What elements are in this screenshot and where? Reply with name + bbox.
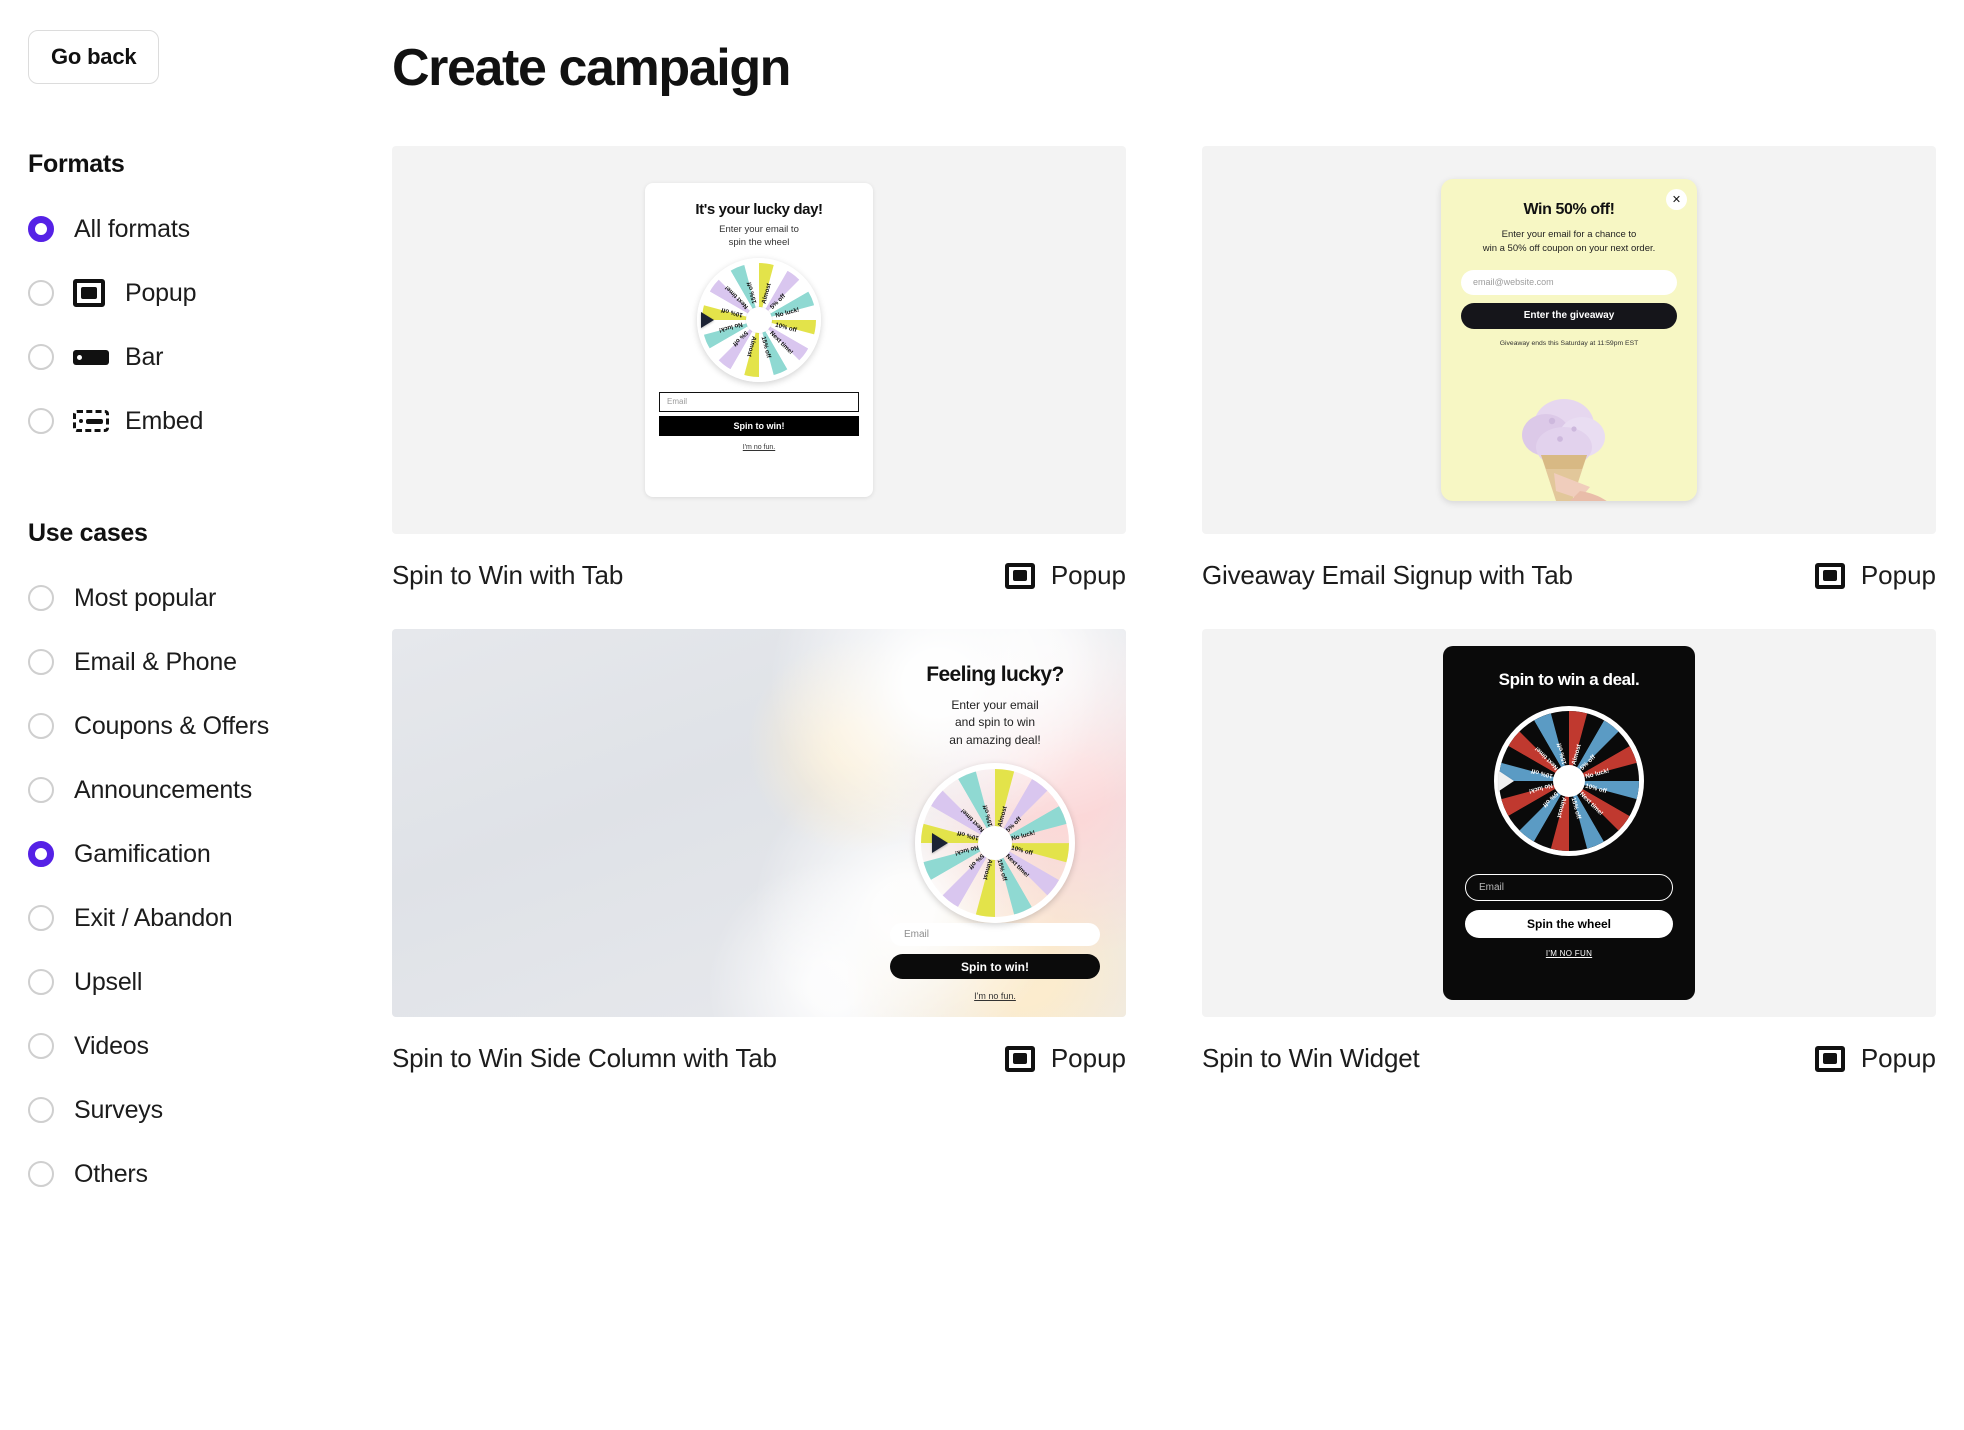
email-input[interactable]: Email (890, 923, 1100, 946)
use-case-option-email-phone[interactable]: Email & Phone (28, 630, 392, 694)
option-label: Announcements (74, 776, 252, 805)
decline-link[interactable]: I'm no fun. (659, 444, 859, 451)
option-label: Others (74, 1160, 148, 1189)
popup-icon (1815, 1046, 1845, 1072)
email-input[interactable]: Email (659, 392, 859, 412)
formats-section-title: Formats (28, 150, 392, 179)
radio-button[interactable] (28, 344, 54, 370)
popup-subheading: Enter your emailand spin to winan amazin… (949, 697, 1040, 749)
wheel-hub (978, 826, 1012, 860)
submit-button[interactable]: Enter the giveaway (1461, 303, 1677, 329)
template-name: Spin to Win with Tab (392, 560, 623, 591)
use-cases-option-list: Most popularEmail & PhoneCoupons & Offer… (28, 566, 392, 1206)
template-card[interactable]: ✕ Win 50% off! Enter your email for a ch… (1202, 146, 1936, 591)
fine-print: Giveaway ends this Saturday at 11:59pm E… (1461, 340, 1677, 347)
side-column-mock: Feeling lucky? Enter your emailand spin … (392, 629, 1126, 1017)
template-preview-spin-to-win-widget[interactable]: Spin to win a deal. Almost5% offNo luck!… (1202, 629, 1936, 1017)
wheel-container: Almost5% offNo luck!10% offNext time!15%… (1465, 706, 1673, 856)
use-case-option-surveys[interactable]: Surveys (28, 1078, 392, 1142)
use-case-option-gamification[interactable]: Gamification (28, 822, 392, 886)
format-option-all-formats[interactable]: All formats (28, 197, 392, 261)
template-card[interactable]: Feeling lucky? Enter your emailand spin … (392, 629, 1126, 1074)
email-input[interactable]: Email (1465, 874, 1673, 901)
option-label: Coupons & Offers (74, 712, 269, 741)
spin-button[interactable]: Spin to win! (890, 954, 1100, 979)
template-name: Spin to Win Side Column with Tab (392, 1043, 777, 1074)
template-name: Giveaway Email Signup with Tab (1202, 560, 1573, 591)
format-badge: Popup (1815, 560, 1936, 591)
format-glyph (73, 350, 113, 365)
email-input[interactable]: email@website.com (1461, 270, 1677, 295)
radio-button[interactable] (28, 777, 54, 803)
popup-subheading: Enter your email tospin the wheel (659, 224, 859, 250)
card-footer: Spin to Win Side Column with Tab Popup (392, 1043, 1126, 1074)
card-footer: Spin to Win Widget Popup (1202, 1043, 1936, 1074)
use-case-option-videos[interactable]: Videos (28, 1014, 392, 1078)
popup-heading: It's your lucky day! (659, 201, 859, 218)
format-glyph (73, 279, 113, 307)
radio-button[interactable] (28, 280, 54, 306)
format-option-popup[interactable]: Popup (28, 261, 392, 325)
card-footer: Giveaway Email Signup with Tab Popup (1202, 560, 1936, 591)
use-case-option-most-popular[interactable]: Most popular (28, 566, 392, 630)
formats-option-list: All formatsPopupBarEmbed (28, 197, 392, 453)
wheel-hub (1553, 765, 1585, 797)
use-case-option-exit-abandon[interactable]: Exit / Abandon (28, 886, 392, 950)
format-badge-label: Popup (1051, 1043, 1126, 1074)
wheel-container: Almost5% offNo luck!10% offNext time!15%… (890, 763, 1100, 923)
use-case-option-announcements[interactable]: Announcements (28, 758, 392, 822)
decline-link[interactable]: I'M NO FUN (1465, 949, 1673, 958)
filters-sidebar: Go back Formats All formatsPopupBarEmbed… (0, 0, 392, 1430)
option-label: Bar (125, 343, 163, 372)
option-label: Popup (125, 279, 196, 308)
spin-button[interactable]: Spin the wheel (1465, 910, 1673, 938)
side-column-panel: Feeling lucky? Enter your emailand spin … (864, 629, 1126, 1017)
page-title: Create campaign (392, 38, 1936, 98)
template-preview-spin-to-win-with-tab[interactable]: It's your lucky day! Enter your email to… (392, 146, 1126, 534)
use-case-option-upsell[interactable]: Upsell (28, 950, 392, 1014)
ice-cream-cone-image (1494, 395, 1644, 501)
popup-icon (1005, 563, 1035, 589)
popup-mock: ✕ Win 50% off! Enter your email for a ch… (1441, 179, 1697, 501)
wheel-pointer-icon (701, 312, 714, 328)
spin-button[interactable]: Spin to win! (659, 416, 859, 436)
format-option-bar[interactable]: Bar (28, 325, 392, 389)
use-case-option-others[interactable]: Others (28, 1142, 392, 1206)
bar-icon (73, 350, 109, 365)
close-icon[interactable]: ✕ (1666, 189, 1687, 210)
template-preview-giveaway-email-signup[interactable]: ✕ Win 50% off! Enter your email for a ch… (1202, 146, 1936, 534)
prize-wheel[interactable]: Almost5% offNo luck!10% offNext time!15%… (697, 258, 821, 382)
embed-icon (73, 410, 109, 432)
wheel-hub (746, 307, 772, 333)
format-badge: Popup (1815, 1043, 1936, 1074)
option-label: Exit / Abandon (74, 904, 232, 933)
option-label: Email & Phone (74, 648, 237, 677)
option-label: Upsell (74, 968, 142, 997)
template-name: Spin to Win Widget (1202, 1043, 1420, 1074)
format-badge-label: Popup (1861, 1043, 1936, 1074)
option-label: Videos (74, 1032, 149, 1061)
option-label: Gamification (74, 840, 211, 869)
popup-icon (1005, 1046, 1035, 1072)
use-cases-section-title: Use cases (28, 519, 392, 548)
format-badge: Popup (1005, 1043, 1126, 1074)
format-badge-label: Popup (1051, 560, 1126, 591)
radio-button[interactable] (28, 585, 54, 611)
template-card[interactable]: Spin to win a deal. Almost5% offNo luck!… (1202, 629, 1936, 1074)
main-content: Create campaign It's your lucky day! Ent… (392, 0, 1964, 1430)
radio-button[interactable] (28, 1161, 54, 1187)
template-preview-spin-to-win-side-column[interactable]: Feeling lucky? Enter your emailand spin … (392, 629, 1126, 1017)
popup-subheading: Enter your email for a chance towin a 50… (1461, 228, 1677, 256)
wheel-pointer-icon (1499, 771, 1514, 791)
popup-heading: Feeling lucky? (926, 663, 1063, 687)
radio-button[interactable] (28, 1097, 54, 1123)
radio-button[interactable] (28, 408, 54, 434)
wheel-container: Almost5% offNo luck!10% offNext time!15%… (659, 258, 859, 382)
wheel-pointer-icon (932, 833, 948, 853)
radio-button[interactable] (28, 905, 54, 931)
radio-button[interactable] (28, 649, 54, 675)
use-case-option-coupons-offers[interactable]: Coupons & Offers (28, 694, 392, 758)
popup-heading: Spin to win a deal. (1465, 670, 1673, 690)
create-campaign-page: Go back Formats All formatsPopupBarEmbed… (0, 0, 1964, 1430)
popup-mock: It's your lucky day! Enter your email to… (645, 183, 873, 497)
radio-button[interactable] (28, 713, 54, 739)
format-badge: Popup (1005, 560, 1126, 591)
decline-link[interactable]: I'm no fun. (974, 991, 1016, 1001)
radio-button[interactable] (28, 216, 54, 242)
format-glyph (73, 410, 113, 432)
radio-button[interactable] (28, 969, 54, 995)
format-badge-label: Popup (1861, 560, 1936, 591)
popup-icon (73, 279, 105, 307)
template-card[interactable]: It's your lucky day! Enter your email to… (392, 146, 1126, 591)
card-footer: Spin to Win with Tab Popup (392, 560, 1126, 591)
prize-wheel[interactable]: Almost5% offNo luck!10% offNext time!15%… (1494, 706, 1644, 856)
popup-heading: Win 50% off! (1461, 201, 1677, 219)
option-label: All formats (74, 215, 190, 244)
option-label: Surveys (74, 1096, 163, 1125)
popup-icon (1815, 563, 1845, 589)
radio-button[interactable] (28, 1033, 54, 1059)
radio-button[interactable] (28, 841, 54, 867)
option-label: Embed (125, 407, 203, 436)
format-option-embed[interactable]: Embed (28, 389, 392, 453)
go-back-button[interactable]: Go back (28, 30, 159, 84)
widget-mock: Spin to win a deal. Almost5% offNo luck!… (1443, 646, 1695, 1000)
template-grid: It's your lucky day! Enter your email to… (392, 146, 1936, 1074)
option-label: Most popular (74, 584, 216, 613)
